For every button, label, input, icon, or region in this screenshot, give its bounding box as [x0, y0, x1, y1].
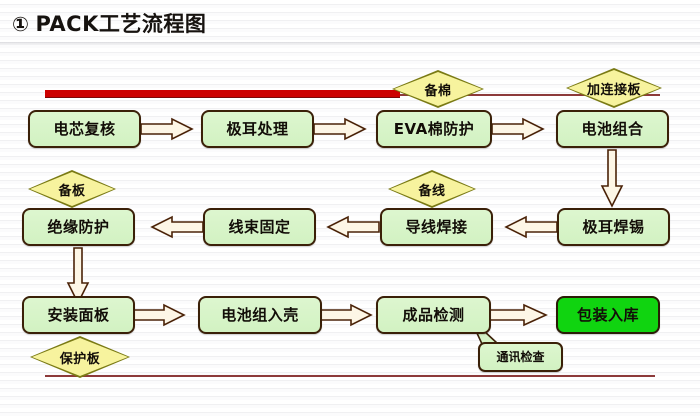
callout-tongxun-jiancha[interactable]: 通讯检查: [478, 342, 563, 372]
arrow-n7-n8: [152, 217, 203, 237]
slide-canvas: ①PACK工艺流程图 .ar{ fill:#fdf6e6; stroke:#4a…: [0, 0, 700, 420]
arrow-n5-n6: [506, 217, 557, 237]
node-anzhuang-mianban[interactable]: 安装面板: [22, 296, 135, 334]
top-red-bar: [45, 90, 400, 98]
arrow-n1-n2: [141, 119, 192, 139]
decision-baohuban-label: 保护板: [30, 336, 130, 378]
arrow-n6-n7: [328, 217, 379, 237]
node-dianchizu-ruke[interactable]: 电池组入壳: [198, 296, 322, 334]
node-jueyuan-fanghu[interactable]: 绝缘防护: [22, 208, 135, 246]
decision-beimian[interactable]: 备棉: [392, 70, 484, 108]
node-xianshu-guding[interactable]: 线束固定: [203, 208, 316, 246]
node-daoxian-hanjie[interactable]: 导线焊接: [380, 208, 493, 246]
node-baozhuang-ruku[interactable]: 包装入库: [556, 296, 660, 334]
decision-beimian-label: 备棉: [392, 70, 484, 108]
arrow-n3-n4: [492, 119, 543, 139]
arrow-n8-n9: [68, 248, 88, 303]
decision-beixian-label: 备线: [388, 170, 476, 208]
bottom-rule: [45, 375, 655, 377]
arrow-n2-n3: [314, 119, 365, 139]
node-jier-hanxi[interactable]: 极耳焊锡: [557, 208, 670, 246]
page-title: ①PACK工艺流程图: [12, 8, 206, 38]
decision-beixian[interactable]: 备线: [388, 170, 476, 208]
arrow-n11-n12: [489, 305, 546, 325]
title-number-icon: ①: [12, 12, 29, 36]
title-text: PACK工艺流程图: [35, 12, 206, 36]
arrow-n10-n11: [320, 305, 371, 325]
node-dianchi-zuhe[interactable]: 电池组合: [556, 110, 669, 148]
arrow-n9-n10: [133, 305, 184, 325]
decision-beiban[interactable]: 备板: [28, 170, 116, 208]
node-eva-mian-fanghu[interactable]: EVA棉防护: [376, 110, 492, 148]
title-divider: [0, 42, 700, 44]
decision-jialianjieban[interactable]: 加连接板: [566, 68, 662, 108]
decision-beiban-label: 备板: [28, 170, 116, 208]
decision-baohuban[interactable]: 保护板: [30, 336, 130, 378]
node-chengpin-jiance[interactable]: 成品检测: [376, 296, 491, 334]
arrow-n4-n5: [602, 150, 622, 206]
decision-jialianjieban-label: 加连接板: [566, 68, 662, 108]
node-jier-chuli[interactable]: 极耳处理: [201, 110, 314, 148]
node-dianxin-fuhe[interactable]: 电芯复核: [28, 110, 141, 148]
